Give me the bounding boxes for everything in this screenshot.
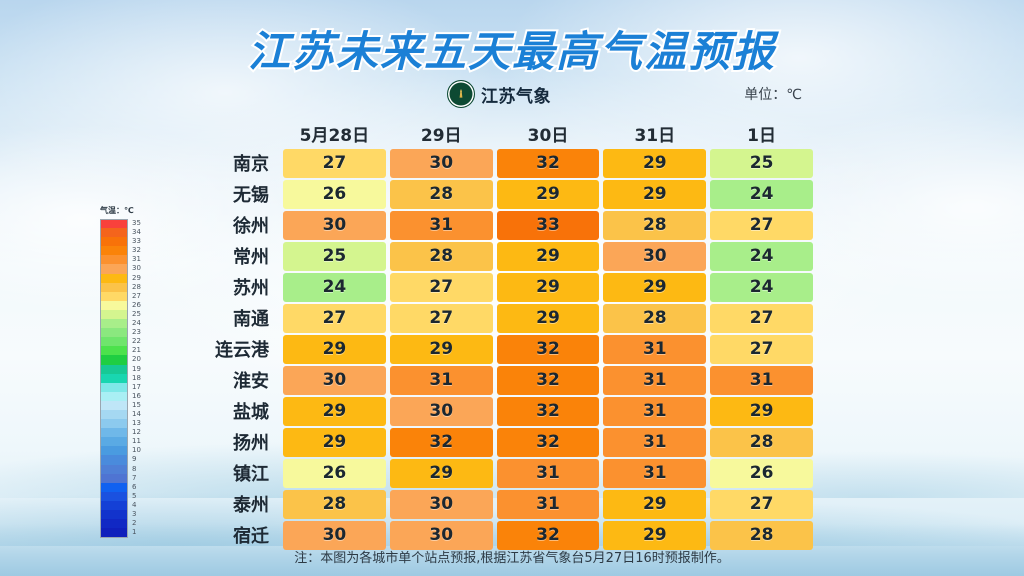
colorbar-swatch [100,292,128,301]
unit-label: 单位：℃ [744,84,802,104]
colorbar-swatch [100,401,128,410]
city-label: 常州 [185,243,281,269]
city-label: 无锡 [185,181,281,207]
temperature-cell-wrap: 31 [388,366,495,395]
colorbar-entry: 16 [100,392,156,401]
colorbar-swatch [100,365,128,374]
temperature-cell-wrap: 27 [281,149,388,178]
temperature-cell-wrap: 30 [388,149,495,178]
colorbar-tick-label: 2 [132,519,136,528]
temperature-cell: 29 [603,521,706,550]
colorbar-swatch [100,392,128,401]
temperature-cell: 31 [497,459,600,488]
temperature-cell-wrap: 24 [708,180,815,209]
colorbar-swatch [100,501,128,510]
temperature-cell: 31 [390,211,493,240]
page-title: 江苏未来五天最高气温预报 [0,18,1024,79]
colorbar-swatch [100,237,128,246]
table-header-row: 5月28日29日30日31日1日 [185,118,815,148]
colorbar-swatch [100,337,128,346]
temperature-cell: 30 [283,366,386,395]
colorbar-entry: 14 [100,410,156,419]
temperature-cell-wrap: 30 [388,521,495,550]
colorbar-swatch [100,374,128,383]
city-label: 苏州 [185,274,281,300]
temperature-cell-wrap: 26 [281,180,388,209]
colorbar-swatch [100,383,128,392]
temperature-cell: 30 [283,521,386,550]
temperature-cell: 31 [603,397,706,426]
day-column-header-3: 31日 [601,121,708,146]
colorbar-entry: 10 [100,446,156,455]
colorbar-entry: 8 [100,465,156,474]
day-column-header-0: 5月28日 [281,121,388,146]
temperature-cell-wrap: 30 [281,366,388,395]
temperature-cell: 29 [283,428,386,457]
temperature-cell: 31 [603,335,706,364]
temperature-cell: 33 [497,211,600,240]
colorbar-swatch [100,310,128,319]
temperature-cell: 27 [390,304,493,333]
temperature-cell: 32 [497,366,600,395]
temperature-cell-wrap: 30 [281,211,388,240]
temperature-cell-wrap: 31 [495,459,602,488]
colorbar-entry: 18 [100,374,156,383]
temperature-cell: 25 [710,149,813,178]
temperature-cell-wrap: 29 [281,397,388,426]
table-row: 镇江2629313126 [185,458,815,488]
colorbar-tick-label: 15 [132,401,141,410]
table-row: 盐城2930323129 [185,396,815,426]
colorbar-swatch [100,465,128,474]
temperature-cell: 24 [283,273,386,302]
colorbar-entry: 13 [100,419,156,428]
colorbar-tick-label: 18 [132,374,141,383]
temperature-cell-wrap: 27 [708,490,815,519]
temperature-cell: 30 [390,397,493,426]
colorbar-entry: 6 [100,483,156,492]
footer-note: 注：本图为各城市单个站点预报,根据江苏省气象台5月27日16时预报制作。 [0,547,1024,566]
temperature-cell-wrap: 32 [495,428,602,457]
colorbar-entry: 29 [100,274,156,283]
colorbar-swatch [100,346,128,355]
colorbar-tick-label: 20 [132,355,141,364]
temperature-cell-wrap: 28 [601,304,708,333]
table-body: 南京2730322925无锡2628292924徐州3031332827常州25… [185,148,815,550]
temperature-cell: 28 [710,521,813,550]
city-label: 扬州 [185,429,281,455]
temperature-cell-wrap: 29 [388,459,495,488]
colorbar-tick-label: 26 [132,301,141,310]
colorbar-tick-label: 25 [132,310,141,319]
colorbar-title: 气温：℃ [100,205,156,216]
temperature-cell: 29 [497,180,600,209]
temperature-cell: 29 [603,490,706,519]
temperature-cell: 29 [497,273,600,302]
temperature-cell: 28 [603,211,706,240]
table-row: 南通2727292827 [185,303,815,333]
temperature-cell: 28 [390,180,493,209]
colorbar-entry: 3 [100,510,156,519]
colorbar-entry: 17 [100,383,156,392]
temperature-cell: 24 [710,273,813,302]
colorbar-tick-label: 34 [132,228,141,237]
colorbar-tick-label: 4 [132,501,136,510]
temperature-cell-wrap: 31 [601,428,708,457]
temperature-cell: 29 [390,459,493,488]
colorbar-tick-label: 10 [132,446,141,455]
temperature-cell: 28 [603,304,706,333]
temperature-cell: 30 [390,490,493,519]
temperature-cell-wrap: 25 [708,149,815,178]
temperature-cell: 32 [497,149,600,178]
colorbar-swatch [100,446,128,455]
temperature-cell: 32 [497,335,600,364]
colorbar-entry: 11 [100,437,156,446]
table-row: 常州2528293024 [185,241,815,271]
temperature-cell: 31 [390,366,493,395]
colorbar-swatch [100,319,128,328]
table-row: 泰州2830312927 [185,489,815,519]
temperature-cell: 28 [710,428,813,457]
colorbar-entry: 24 [100,319,156,328]
temperature-cell-wrap: 33 [495,211,602,240]
temperature-cell-wrap: 24 [281,273,388,302]
colorbar-tick-label: 6 [132,483,136,492]
colorbar-tick-label: 19 [132,365,141,374]
temperature-cell-wrap: 31 [601,459,708,488]
colorbar-entry: 20 [100,355,156,364]
temperature-cell-wrap: 27 [281,304,388,333]
temperature-cell-wrap: 28 [708,428,815,457]
colorbar-tick-label: 14 [132,410,141,419]
colorbar-tick-label: 28 [132,283,141,292]
temperature-cell-wrap: 28 [601,211,708,240]
temperature-cell-wrap: 32 [495,397,602,426]
temperature-cell: 32 [497,521,600,550]
temperature-cell-wrap: 27 [388,304,495,333]
city-label: 南京 [185,150,281,176]
temperature-cell: 31 [603,459,706,488]
colorbar-swatch [100,283,128,292]
temperature-cell: 29 [497,242,600,271]
temperature-cell: 32 [390,428,493,457]
table-row: 淮安3031323131 [185,365,815,395]
temperature-cell: 30 [603,242,706,271]
temperature-cell-wrap: 31 [601,335,708,364]
temperature-cell-wrap: 29 [708,397,815,426]
colorbar-swatch [100,219,128,229]
temperature-cell: 29 [603,149,706,178]
temperature-cell-wrap: 32 [495,366,602,395]
temperature-cell-wrap: 27 [708,335,815,364]
colorbar-swatch [100,355,128,364]
temperature-cell-wrap: 31 [495,490,602,519]
temperature-cell: 27 [710,335,813,364]
colorbar-entry: 23 [100,328,156,337]
colorbar-tick-label: 27 [132,292,141,301]
temperature-cell: 28 [390,242,493,271]
colorbar-swatch [100,528,128,538]
temperature-cell: 29 [390,335,493,364]
colorbar-swatch [100,492,128,501]
colorbar-entry: 9 [100,455,156,464]
temperature-cell-wrap: 24 [708,242,815,271]
temperature-cell-wrap: 28 [388,242,495,271]
table-row: 徐州3031332827 [185,210,815,240]
temperature-cell-wrap: 28 [281,490,388,519]
temperature-cell-wrap: 26 [708,459,815,488]
temperature-cell-wrap: 27 [388,273,495,302]
day-column-header-2: 30日 [495,121,602,146]
table-row: 连云港2929323127 [185,334,815,364]
temperature-cell-wrap: 26 [281,459,388,488]
city-label: 盐城 [185,398,281,424]
temperature-cell-wrap: 32 [495,149,602,178]
colorbar-swatch [100,474,128,483]
city-label: 宿迁 [185,522,281,548]
temperature-cell-wrap: 29 [495,304,602,333]
colorbar-swatch [100,228,128,237]
colorbar-tick-label: 12 [132,428,141,437]
colorbar-tick-label: 21 [132,346,141,355]
colorbar-tick-label: 30 [132,264,141,273]
city-label: 泰州 [185,491,281,517]
temperature-cell: 31 [603,428,706,457]
colorbar-tick-label: 22 [132,337,141,346]
colorbar-entry: 34 [100,228,156,237]
colorbar-swatch [100,246,128,255]
colorbar-tick-label: 3 [132,510,136,519]
temperature-cell-wrap: 32 [495,335,602,364]
colorbar-entry: 5 [100,492,156,501]
city-label: 淮安 [185,367,281,393]
temperature-cell: 29 [497,304,600,333]
temperature-cell-wrap: 32 [495,521,602,550]
colorbar-entry: 31 [100,255,156,264]
temperature-cell: 26 [283,459,386,488]
colorbar-swatch [100,510,128,519]
temperature-cell: 27 [390,273,493,302]
table-row: 苏州2427292924 [185,272,815,302]
table-row: 无锡2628292924 [185,179,815,209]
temperature-cell: 32 [497,397,600,426]
colorbar-swatch [100,437,128,446]
colorbar-tick-label: 13 [132,419,141,428]
colorbar-entry: 27 [100,292,156,301]
colorbar-entry: 12 [100,428,156,437]
colorbar-entry: 7 [100,474,156,483]
colorbar-tick-label: 33 [132,237,141,246]
temperature-cell-wrap: 30 [281,521,388,550]
colorbar-tick-label: 7 [132,474,136,483]
temperature-cell: 26 [710,459,813,488]
colorbar-tick-label: 23 [132,328,141,337]
temperature-cell: 26 [283,180,386,209]
temperature-cell-wrap: 30 [388,397,495,426]
colorbar-entry: 35 [100,219,156,228]
temperature-cell-wrap: 29 [281,335,388,364]
temperature-cell: 32 [497,428,600,457]
colorbar-entry: 15 [100,401,156,410]
colorbar-tick-label: 29 [132,274,141,283]
jiangsu-meteorology-emblem-icon [447,80,475,108]
temperature-cell-wrap: 29 [601,149,708,178]
city-label: 徐州 [185,212,281,238]
temperature-cell-wrap: 30 [601,242,708,271]
colorbar-swatch [100,428,128,437]
colorbar-swatch [100,483,128,492]
temperature-cell-wrap: 31 [708,366,815,395]
colorbar-entry: 4 [100,501,156,510]
colorbar-tick-label: 5 [132,492,136,501]
colorbar-tick-label: 1 [132,528,136,537]
temperature-cell-wrap: 29 [495,242,602,271]
temperature-cell-wrap: 32 [388,428,495,457]
temperature-cell: 24 [710,180,813,209]
forecast-table: 5月28日29日30日31日1日 南京2730322925无锡262829292… [185,118,815,551]
temperature-cell: 27 [283,149,386,178]
temperature-colorbar: 气温：℃ 35343332313029282726252423222120191… [100,205,156,537]
colorbar-entry: 28 [100,283,156,292]
colorbar-swatch [100,274,128,283]
temperature-cell: 27 [710,211,813,240]
colorbar-entry: 19 [100,365,156,374]
colorbar-tick-label: 8 [132,465,136,474]
temperature-cell-wrap: 28 [708,521,815,550]
temperature-cell-wrap: 30 [388,490,495,519]
temperature-cell: 31 [603,366,706,395]
temperature-cell: 28 [283,490,386,519]
colorbar-entry: 25 [100,310,156,319]
colorbar-entry: 32 [100,246,156,255]
temperature-cell: 29 [603,273,706,302]
colorbar-tick-label: 31 [132,255,141,264]
temperature-cell-wrap: 27 [708,304,815,333]
temperature-cell: 30 [283,211,386,240]
colorbar-swatch [100,455,128,464]
temperature-cell-wrap: 25 [281,242,388,271]
colorbar-entry: 21 [100,346,156,355]
temperature-cell-wrap: 31 [601,397,708,426]
temperature-cell: 29 [603,180,706,209]
temperature-cell: 27 [283,304,386,333]
temperature-cell: 25 [283,242,386,271]
temperature-cell: 30 [390,149,493,178]
day-column-header-4: 1日 [708,121,815,146]
colorbar-swatch [100,410,128,419]
temperature-cell-wrap: 28 [388,180,495,209]
temperature-cell-wrap: 24 [708,273,815,302]
temperature-cell-wrap: 29 [601,273,708,302]
city-label: 南通 [185,305,281,331]
colorbar-swatch [100,255,128,264]
temperature-cell-wrap: 29 [601,521,708,550]
temperature-cell-wrap: 29 [388,335,495,364]
temperature-cell-wrap: 29 [281,428,388,457]
city-label: 镇江 [185,460,281,486]
temperature-cell: 31 [497,490,600,519]
colorbar-entry: 26 [100,301,156,310]
temperature-cell-wrap: 29 [601,180,708,209]
colorbar-swatch [100,328,128,337]
colorbar-swatch [100,419,128,428]
colorbar-entry: 1 [100,528,156,537]
temperature-cell: 29 [283,335,386,364]
colorbar-tick-label: 9 [132,455,136,464]
colorbar-entry: 33 [100,237,156,246]
colorbar-tick-label: 35 [132,219,141,228]
brand-name: 江苏气象 [481,82,551,107]
colorbar-tick-label: 16 [132,392,141,401]
colorbar-tick-label: 11 [132,437,141,446]
temperature-cell: 27 [710,304,813,333]
brand-logo: 江苏气象 [447,80,551,108]
colorbar-swatch [100,264,128,273]
temperature-cell-wrap: 29 [601,490,708,519]
temperature-cell-wrap: 29 [495,180,602,209]
table-row: 宿迁3030322928 [185,520,815,550]
temperature-cell-wrap: 27 [708,211,815,240]
temperature-cell: 29 [283,397,386,426]
table-row: 扬州2932323128 [185,427,815,457]
colorbar-swatch [100,301,128,310]
temperature-cell: 29 [710,397,813,426]
colorbar-tick-label: 32 [132,246,141,255]
city-label: 连云港 [185,336,281,362]
temperature-cell-wrap: 29 [495,273,602,302]
colorbar-scale: 3534333231302928272625242322212019181716… [100,219,156,537]
temperature-cell: 30 [390,521,493,550]
colorbar-tick-label: 24 [132,319,141,328]
temperature-cell-wrap: 31 [388,211,495,240]
colorbar-entry: 22 [100,337,156,346]
temperature-cell-wrap: 31 [601,366,708,395]
table-row: 南京2730322925 [185,148,815,178]
colorbar-entry: 30 [100,264,156,273]
colorbar-tick-label: 17 [132,383,141,392]
day-column-header-1: 29日 [388,121,495,146]
temperature-cell: 27 [710,490,813,519]
temperature-cell: 31 [710,366,813,395]
temperature-cell: 24 [710,242,813,271]
